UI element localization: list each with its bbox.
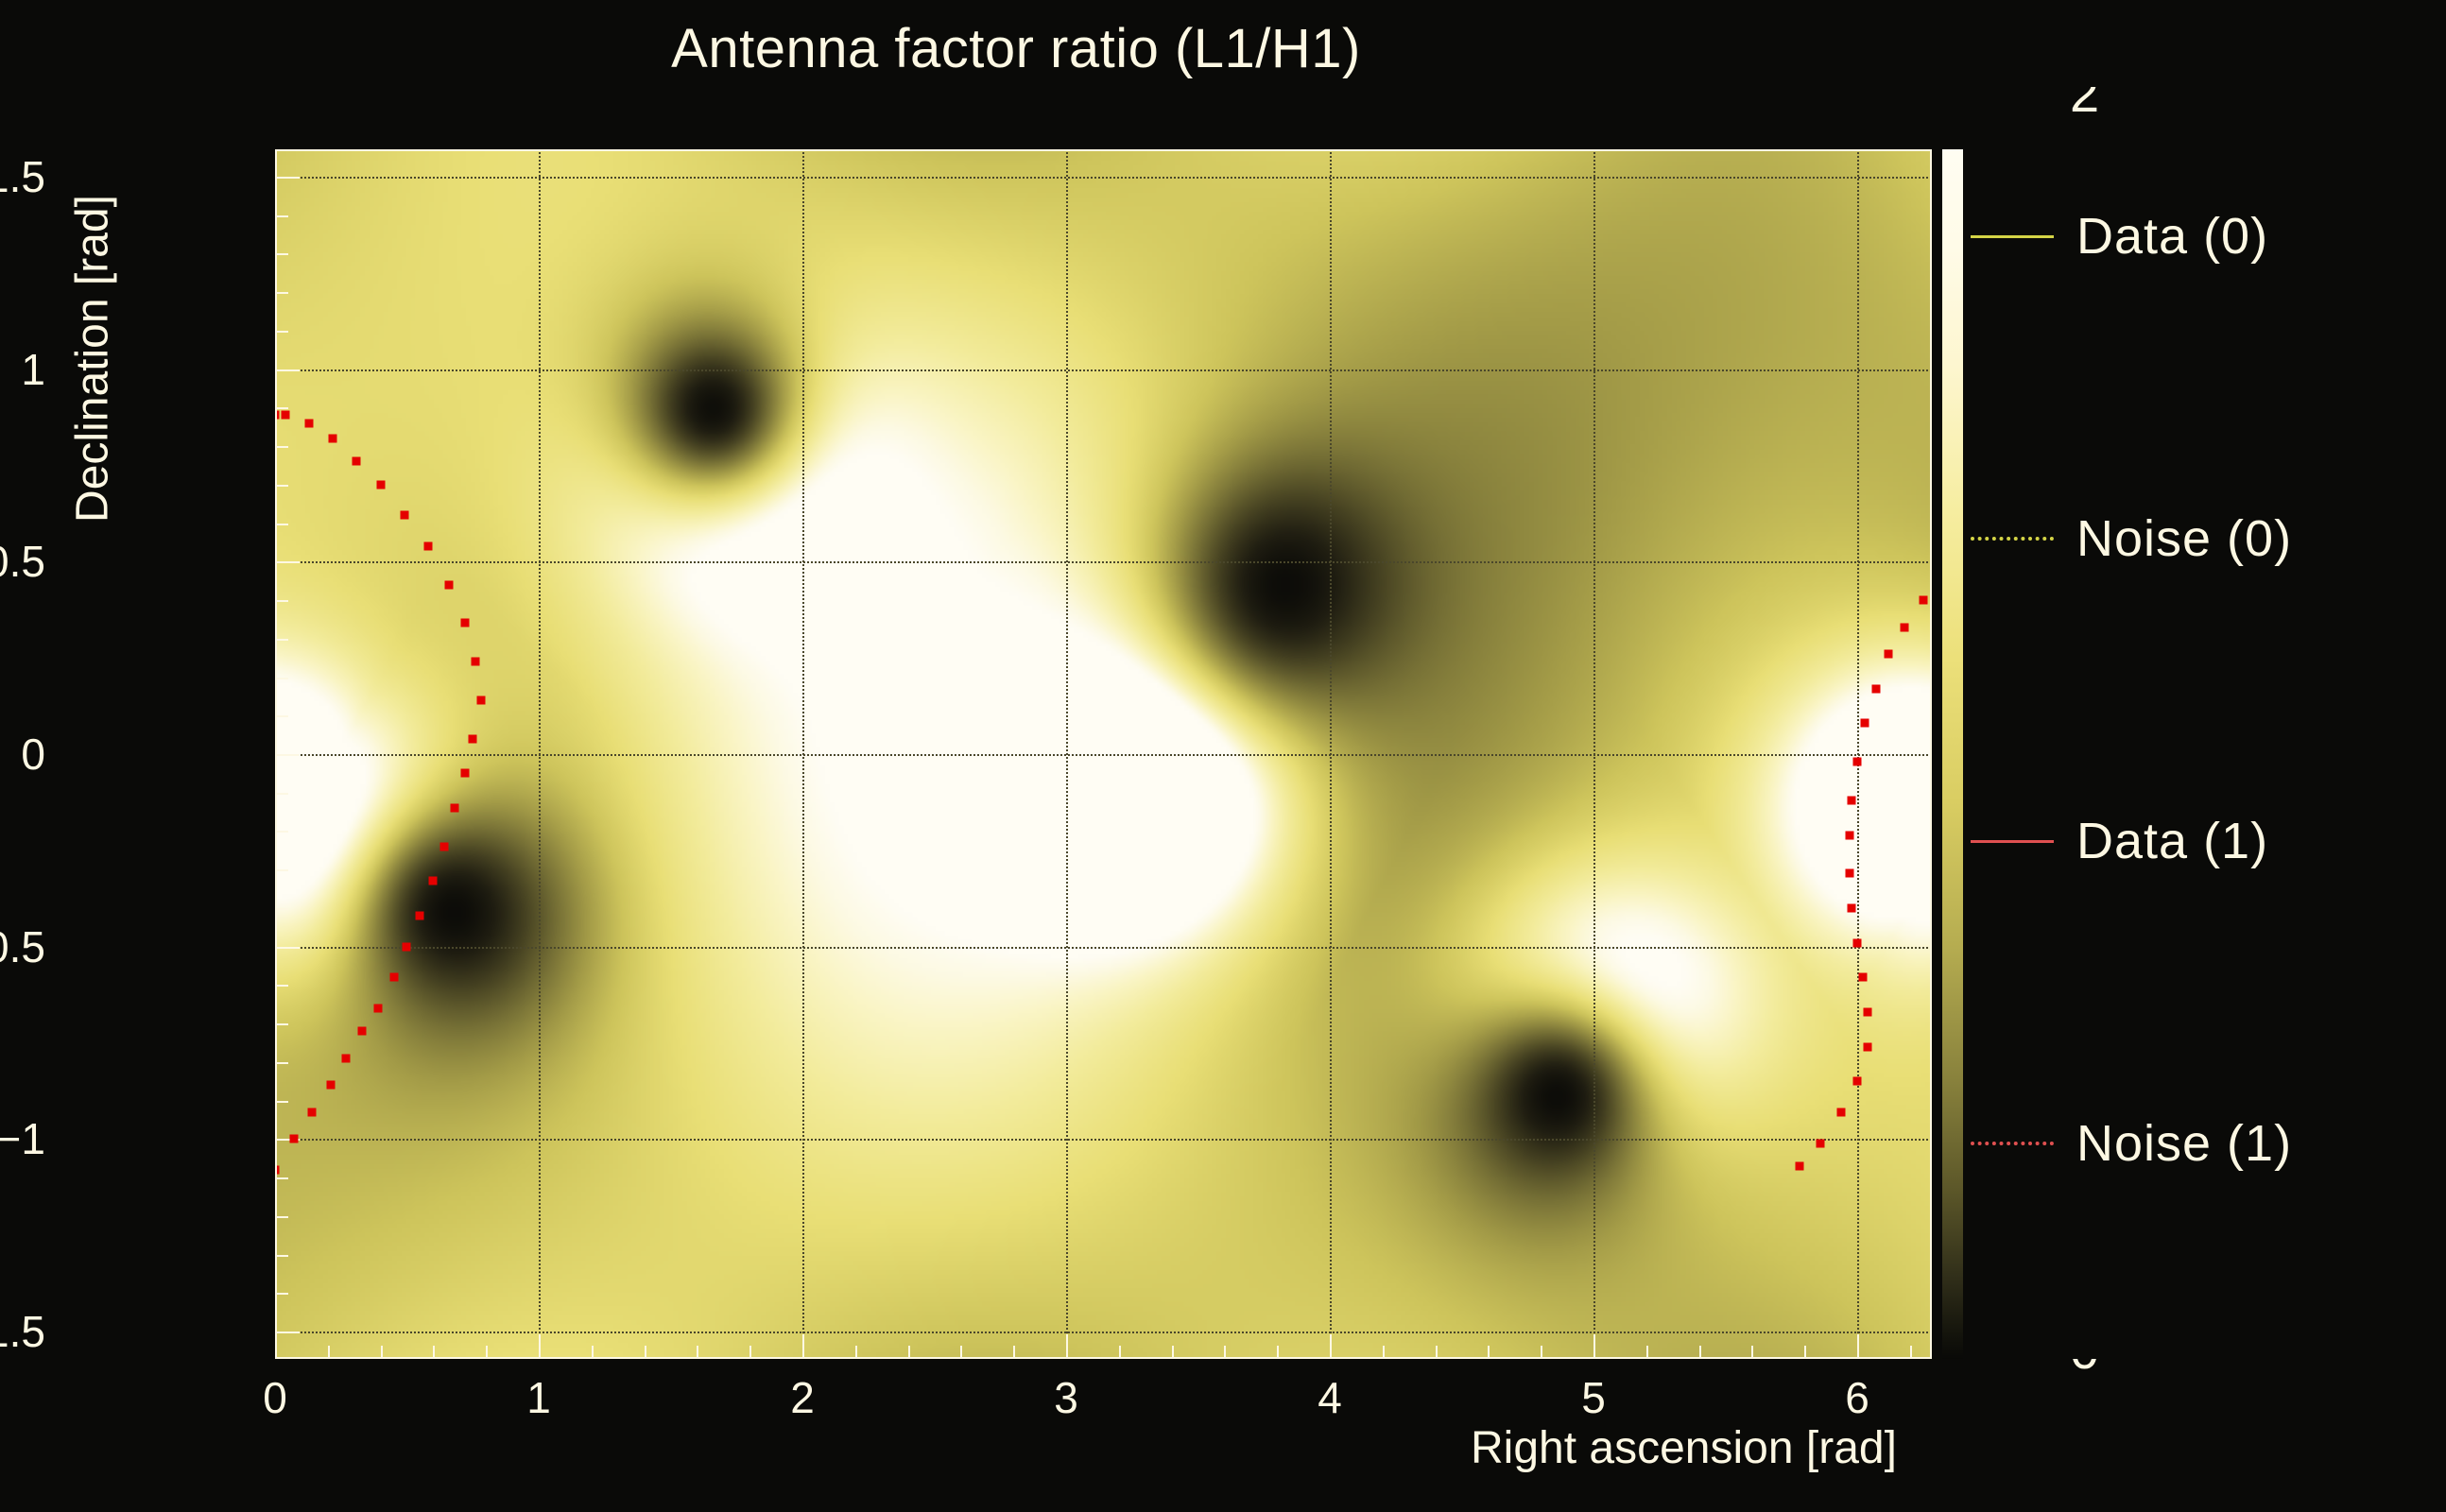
legend-line-swatch-dotted [1971, 537, 2054, 541]
noise-curve-marker [416, 912, 424, 920]
y-tick-minor [275, 715, 288, 717]
noise-curve-marker [1845, 831, 1853, 839]
noise-curve-marker [460, 769, 469, 778]
noise-curve-marker [282, 411, 290, 420]
noise-curve-marker [1919, 596, 1927, 605]
legend-item-data-1[interactable]: Data (1) [1971, 803, 2268, 879]
x-tick-major [1066, 1334, 1068, 1359]
noise-curve-marker [423, 541, 432, 550]
legend-label: Data (1) [2076, 812, 2268, 870]
noise-curve-marker [1885, 650, 1893, 659]
heatmap-plot-area[interactable] [275, 149, 1932, 1359]
x-tick-minor [1172, 1346, 1174, 1359]
figure-canvas: Antenna factor ratio (L1/H1) 0123456 1.5… [0, 0, 2446, 1512]
x-tick-minor [1699, 1346, 1701, 1359]
legend-label: Noise (0) [2076, 509, 2292, 568]
y-tick-minor [275, 485, 288, 487]
x-tick-minor [328, 1346, 330, 1359]
x-tick-minor [908, 1346, 910, 1359]
colorbar-min-label: 0 [2070, 1359, 2155, 1402]
y-tick-minor [275, 407, 288, 409]
noise-curve-marker [275, 1166, 280, 1175]
legend-item-noise-1[interactable]: Noise (1) [1971, 1106, 2292, 1181]
x-tick-minor [1436, 1346, 1438, 1359]
y-tick-label: 0 [21, 729, 45, 780]
legend-item-noise-0[interactable]: Noise (0) [1971, 501, 2292, 576]
noise-curve-marker [439, 842, 448, 850]
y-tick-label: −1.5 [0, 1306, 45, 1357]
noise-curve-marker [460, 619, 469, 627]
x-tick-major [802, 1334, 804, 1359]
x-tick-minor [1277, 1346, 1279, 1359]
legend: Data (0)Noise (0)Data (1)Noise (1) [1971, 198, 2443, 1332]
y-tick-minor [275, 524, 288, 525]
x-tick-major [1330, 1334, 1332, 1359]
y-tick-minor [275, 639, 288, 641]
noise-curve-marker [1861, 719, 1869, 728]
noise-curve-marker [1858, 973, 1867, 982]
x-tick-minor [1751, 1346, 1753, 1359]
noise-curve-marker [445, 580, 454, 589]
noise-curve-marker [376, 480, 385, 489]
legend-item-data-0[interactable]: Data (0) [1971, 198, 2268, 274]
y-tick-minor [275, 253, 288, 255]
noise-curve-marker [403, 942, 411, 951]
x-tick-major [539, 1334, 541, 1359]
noise-curve-marker [342, 1054, 351, 1062]
y-tick-major [275, 369, 300, 371]
noise-curve-marker [358, 1027, 367, 1036]
noise-curve-marker [469, 734, 477, 743]
noise-curve-marker [353, 457, 361, 466]
noise-curve-marker [1852, 1077, 1861, 1086]
x-tick-label: 0 [263, 1372, 287, 1423]
chart-title: Antenna factor ratio (L1/H1) [0, 17, 2032, 80]
noise-curve-marker [1852, 938, 1861, 947]
noise-curve-marker [1864, 1007, 1872, 1016]
y-tick-minor [275, 793, 288, 795]
x-tick-minor [1013, 1346, 1015, 1359]
y-tick-minor [275, 869, 288, 871]
x-tick-minor [960, 1346, 962, 1359]
x-tick-major [1593, 1334, 1595, 1359]
heatmap-image [275, 149, 1932, 1359]
y-tick-minor [275, 292, 288, 294]
legend-label: Data (0) [2076, 207, 2268, 266]
y-tick-label: −0.5 [0, 921, 45, 972]
y-tick-label: 1 [21, 344, 45, 395]
x-tick-minor [592, 1346, 594, 1359]
y-tick-major [275, 947, 300, 949]
y-tick-major [275, 1332, 300, 1333]
x-tick-label: 3 [1054, 1372, 1078, 1423]
noise-curve-marker [373, 1004, 382, 1012]
x-tick-label: 6 [1845, 1372, 1869, 1423]
y-tick-minor [275, 678, 288, 679]
y-tick-minor [275, 1293, 288, 1295]
noise-curve-marker [1901, 623, 1909, 631]
colorbar-max-label: 2 [2070, 87, 2155, 149]
noise-curve-marker [329, 434, 337, 442]
legend-line-swatch-solid [1971, 235, 2054, 238]
x-tick-minor [1910, 1346, 1912, 1359]
x-tick-major [275, 1334, 277, 1359]
noise-curve-marker [429, 877, 438, 885]
x-tick-minor [855, 1346, 857, 1359]
x-tick-label: 4 [1318, 1372, 1342, 1423]
y-tick-minor [275, 985, 288, 987]
x-tick-minor [1119, 1346, 1121, 1359]
x-tick-minor [486, 1346, 488, 1359]
x-tick-minor [1804, 1346, 1806, 1359]
legend-line-swatch-dotted [1971, 1142, 2054, 1145]
noise-curve-marker [289, 1135, 298, 1143]
noise-curve-marker [476, 696, 485, 704]
noise-curve-marker [275, 411, 280, 420]
noise-curve-marker [1845, 869, 1853, 878]
noise-curve-marker [1864, 1042, 1872, 1051]
y-tick-label: 1.5 [0, 151, 45, 202]
x-tick-minor [433, 1346, 435, 1359]
x-tick-minor [1541, 1346, 1542, 1359]
y-tick-major [275, 177, 300, 179]
y-tick-minor [275, 831, 288, 833]
noise-curve-marker [1795, 1161, 1803, 1170]
noise-curve-marker [1848, 903, 1856, 912]
x-tick-minor [381, 1346, 383, 1359]
x-tick-label: 2 [790, 1372, 815, 1423]
y-tick-minor [275, 331, 288, 333]
y-tick-major [275, 754, 300, 756]
legend-line-swatch-solid [1971, 840, 2054, 843]
x-tick-minor [749, 1346, 751, 1359]
y-tick-minor [275, 1177, 288, 1179]
x-axis-title: Right ascension [rad] [1471, 1422, 1897, 1474]
y-tick-major [275, 561, 300, 563]
y-tick-minor [275, 446, 288, 448]
noise-curve-marker [1816, 1139, 1824, 1147]
noise-curve-marker [1848, 796, 1856, 804]
y-tick-minor [275, 1062, 288, 1064]
y-tick-minor [275, 215, 288, 217]
y-tick-minor [275, 1101, 288, 1103]
x-tick-label: 1 [526, 1372, 551, 1423]
y-tick-label: −1 [0, 1113, 45, 1164]
noise-curve-marker [1852, 758, 1861, 766]
noise-curve-marker [389, 973, 398, 982]
x-tick-label: 5 [1581, 1372, 1606, 1423]
noise-curve-marker [400, 511, 408, 520]
colorbar[interactable] [1942, 149, 1963, 1359]
legend-label: Noise (1) [2076, 1114, 2292, 1173]
y-axis-title: Declination [rad] [67, 161, 119, 558]
noise-curve-marker [472, 658, 480, 666]
x-tick-minor [1224, 1346, 1226, 1359]
y-tick-minor [275, 1023, 288, 1025]
noise-curve-marker [1837, 1108, 1846, 1116]
y-tick-minor [275, 908, 288, 910]
y-tick-minor [275, 1255, 288, 1257]
noise-curve-marker [326, 1081, 335, 1090]
x-tick-minor [1383, 1346, 1385, 1359]
x-tick-minor [645, 1346, 646, 1359]
y-tick-minor [275, 1216, 288, 1218]
noise-curve-marker [450, 804, 458, 813]
noise-curve-marker [1871, 684, 1880, 693]
noise-curve-marker [308, 1108, 317, 1116]
x-tick-minor [1646, 1346, 1648, 1359]
noise-curve-marker [305, 419, 314, 427]
x-tick-major [1857, 1334, 1859, 1359]
x-tick-minor [1488, 1346, 1490, 1359]
x-tick-minor [697, 1346, 698, 1359]
y-tick-minor [275, 600, 288, 602]
y-tick-label: 0.5 [0, 536, 45, 587]
